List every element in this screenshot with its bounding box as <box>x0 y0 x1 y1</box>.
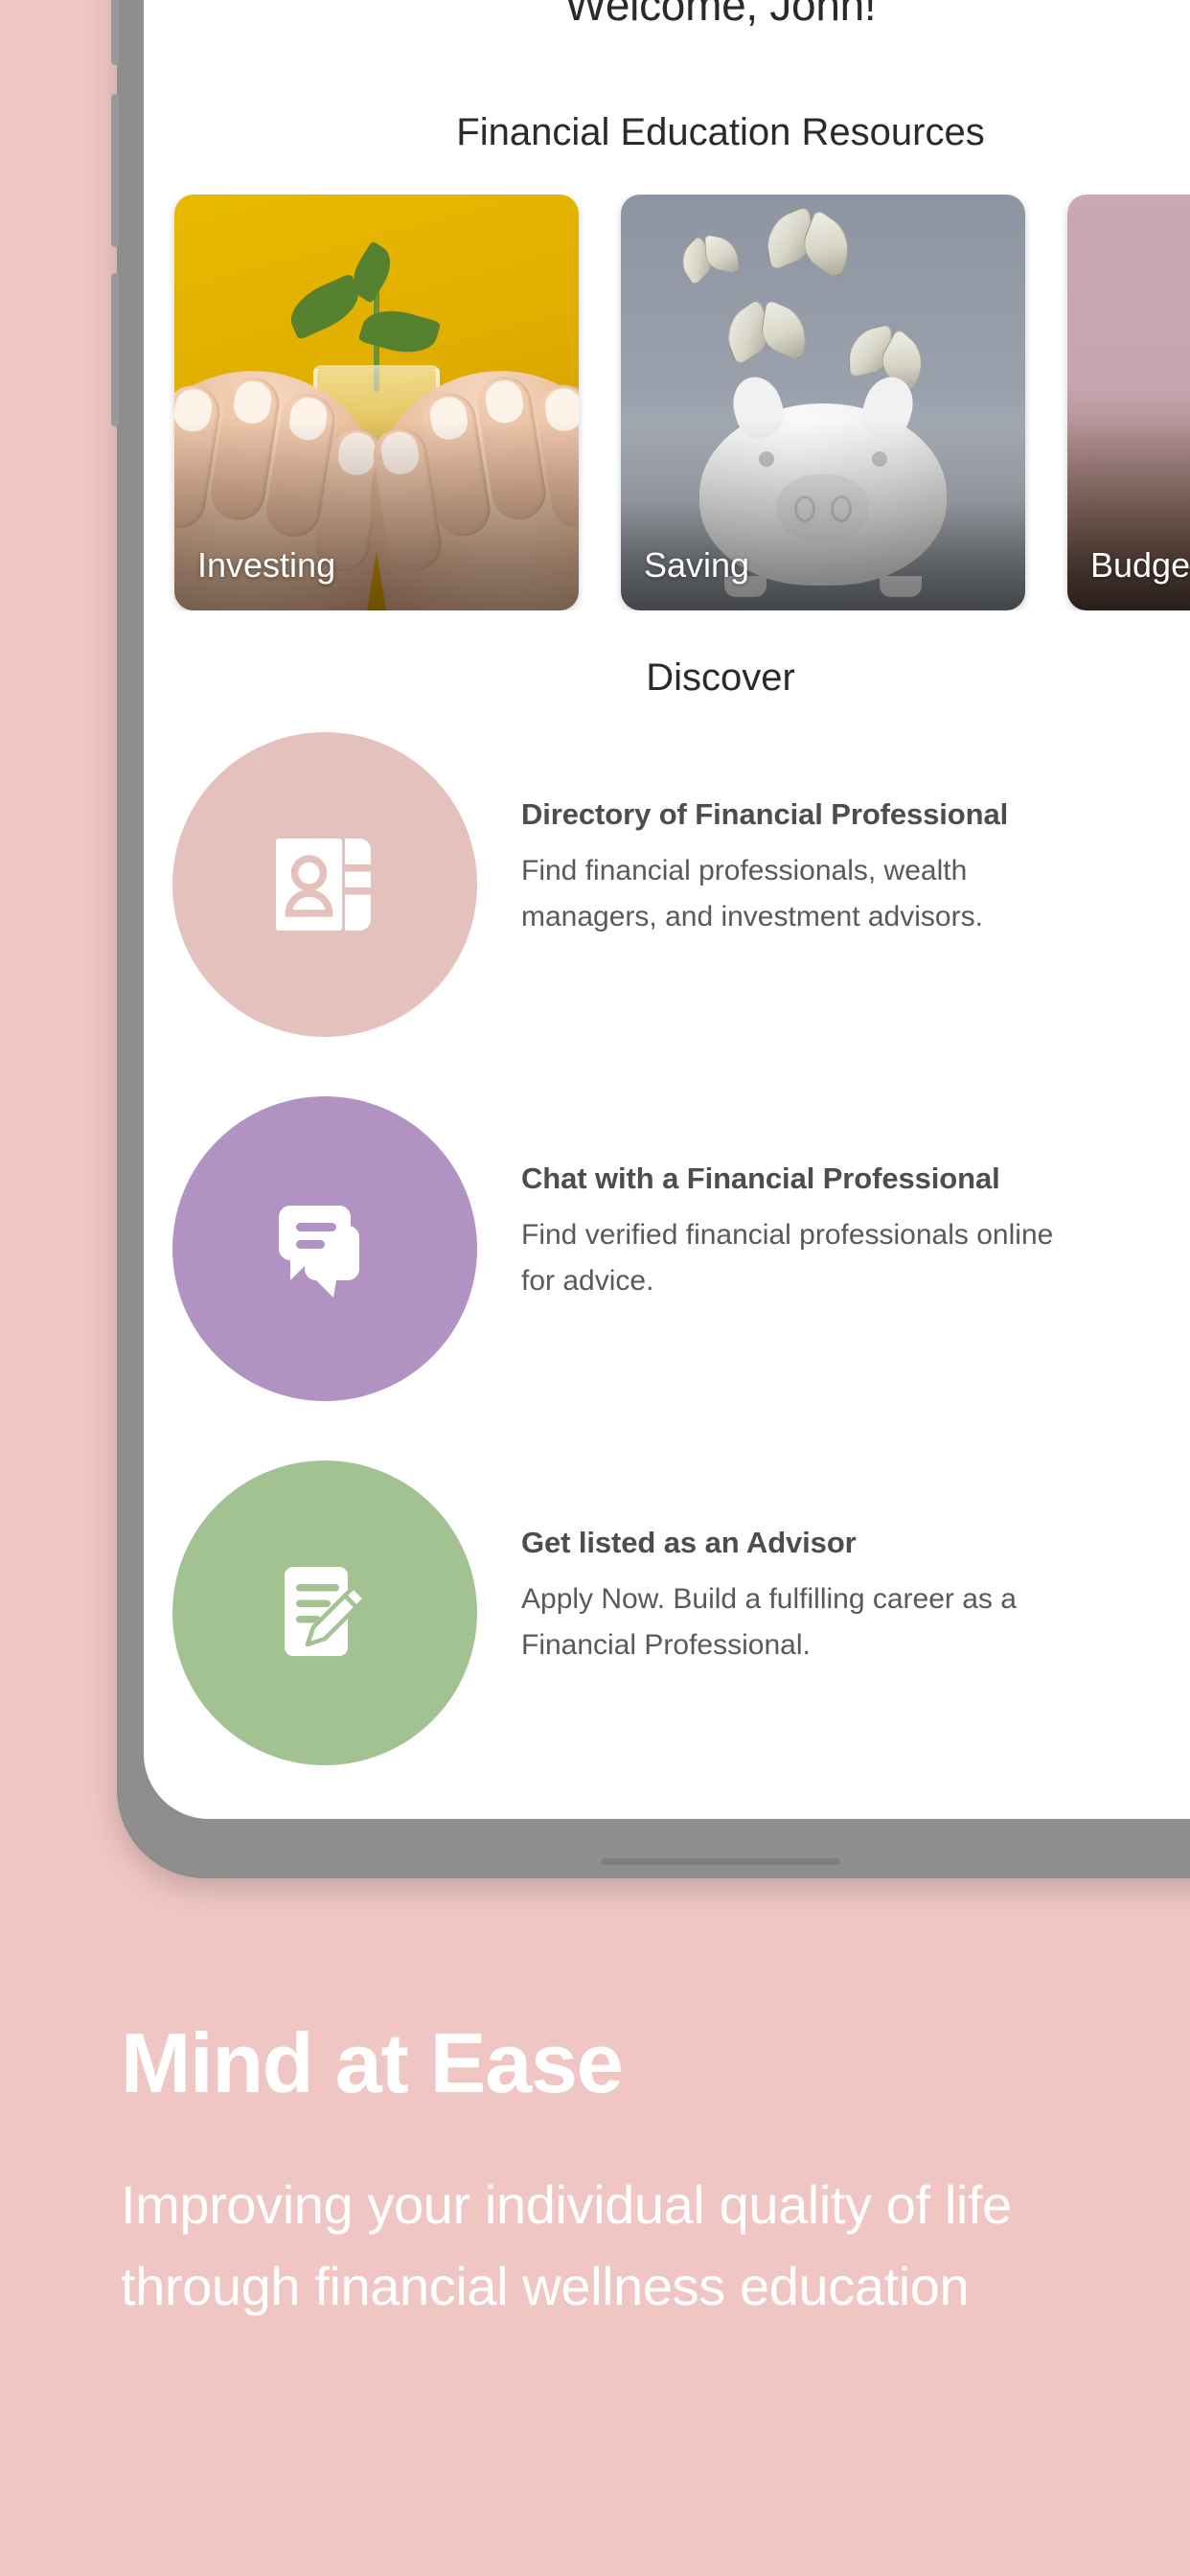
list-item[interactable]: Chat with a Financial Professional Find … <box>172 1096 1190 1401</box>
document-pencil-icon <box>172 1460 477 1765</box>
resource-card-label: Investing <box>197 545 335 586</box>
discover-list: Directory of Financial Professional Find… <box>159 732 1190 1765</box>
resource-card-label: Budgeting <box>1090 545 1190 586</box>
chat-bubbles-icon <box>172 1096 477 1401</box>
list-item-heading: Directory of Financial Professional <box>521 797 1046 833</box>
hero-subtitle: Improving your individual quality of lif… <box>121 2164 1060 2327</box>
resource-card-investing[interactable]: Investing <box>174 195 579 610</box>
list-item[interactable]: Get listed as an Advisor Apply Now. Buil… <box>172 1460 1190 1765</box>
welcome-greeting: Welcome, John! <box>159 0 1190 31</box>
list-item-body: Find verified financial professionals on… <box>521 1212 1054 1305</box>
phone-silent-switch[interactable] <box>111 0 119 65</box>
resource-card-saving[interactable]: Saving <box>621 195 1025 610</box>
financial-education-resources-title: Financial Education Resources <box>159 111 1190 154</box>
list-item-text: Directory of Financial Professional Find… <box>521 732 1054 941</box>
list-item-body: Apply Now. Build a fulfilling career as … <box>521 1576 1054 1669</box>
resource-card-rail[interactable]: Investing <box>159 195 1190 610</box>
list-item[interactable]: Directory of Financial Professional Find… <box>172 732 1190 1037</box>
phone-volume-down-button[interactable] <box>111 273 119 426</box>
phone-mockup-frame: Welcome, John! Financial Education Resou… <box>117 0 1190 1878</box>
list-item-text: Chat with a Financial Professional Find … <box>521 1096 1054 1305</box>
list-item-text: Get listed as an Advisor Apply Now. Buil… <box>521 1460 1054 1669</box>
address-book-icon <box>172 732 477 1037</box>
app-home-screen: Welcome, John! Financial Education Resou… <box>144 0 1190 1819</box>
hero-section: Mind at Ease Improving your individual q… <box>0 1963 1190 2576</box>
resource-card-label: Saving <box>644 545 749 586</box>
hero-title: Mind at Ease <box>121 1963 1069 2112</box>
list-item-heading: Get listed as an Advisor <box>521 1526 1046 1561</box>
discover-title: Discover <box>159 656 1190 700</box>
list-item-body: Find financial professionals, wealth man… <box>521 848 1054 941</box>
list-item-heading: Chat with a Financial Professional <box>521 1161 1046 1197</box>
phone-screen: Welcome, John! Financial Education Resou… <box>144 0 1190 1819</box>
resource-card-budgeting[interactable]: Budgeting <box>1067 195 1190 610</box>
phone-volume-up-button[interactable] <box>111 94 119 247</box>
